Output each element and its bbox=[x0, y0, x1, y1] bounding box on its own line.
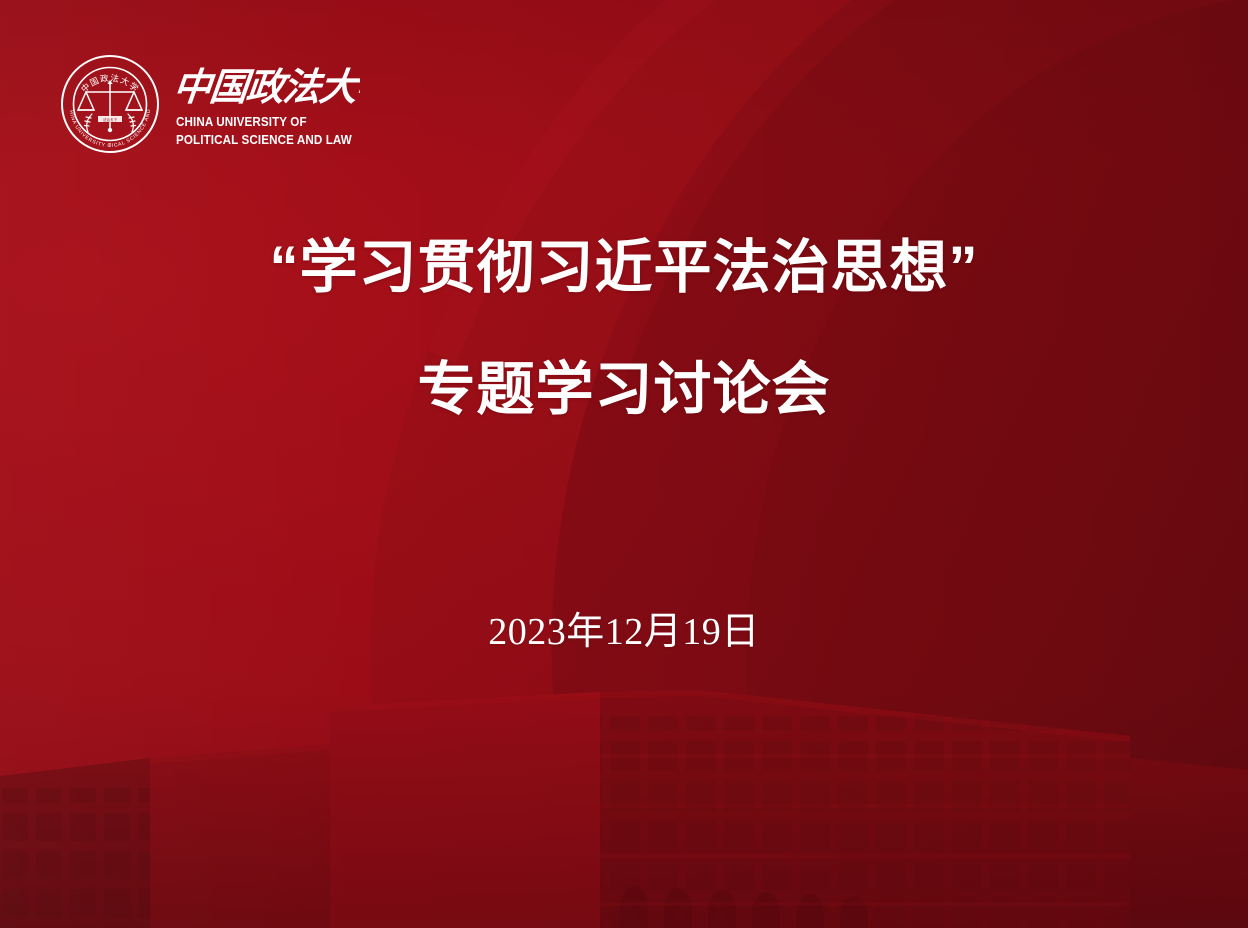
presentation-title-slide: 中国政法大学 CHINA UNIVERSITY OF POLITICAL SCI… bbox=[0, 0, 1248, 928]
wordmark-english-line2: POLITICAL SCIENCE AND LAW bbox=[176, 133, 352, 149]
wordmark-chinese-calligraphy: 中国政法大学 bbox=[176, 62, 360, 112]
title-line-2: 专题学习讨论会 bbox=[0, 354, 1248, 426]
university-wordmark: 中国政法大学 CHINA UNIVERSITY OF POLITICAL SCI… bbox=[176, 60, 365, 149]
slide-title-block: “学习贯彻习近平法治思想” 专题学习讨论会 bbox=[0, 232, 1248, 426]
svg-text:法治天下: 法治天下 bbox=[103, 117, 118, 122]
university-seal-icon: 中国政法大学 CHINA UNIVERSITY OF POLITICAL SCI… bbox=[58, 52, 162, 156]
slide-date: 2023年12月19日 bbox=[0, 608, 1248, 656]
svg-text:CHINA UNIVERSITY OF: CHINA UNIVERSITY OF bbox=[58, 52, 112, 149]
svg-text:中国政法大学: 中国政法大学 bbox=[176, 66, 360, 109]
title-line-1: “学习贯彻习近平法治思想” bbox=[0, 232, 1248, 304]
university-logo-lockup: 中国政法大学 CHINA UNIVERSITY OF POLITICAL SCI… bbox=[58, 52, 365, 156]
wordmark-english-line1: CHINA UNIVERSITY OF bbox=[176, 115, 352, 131]
